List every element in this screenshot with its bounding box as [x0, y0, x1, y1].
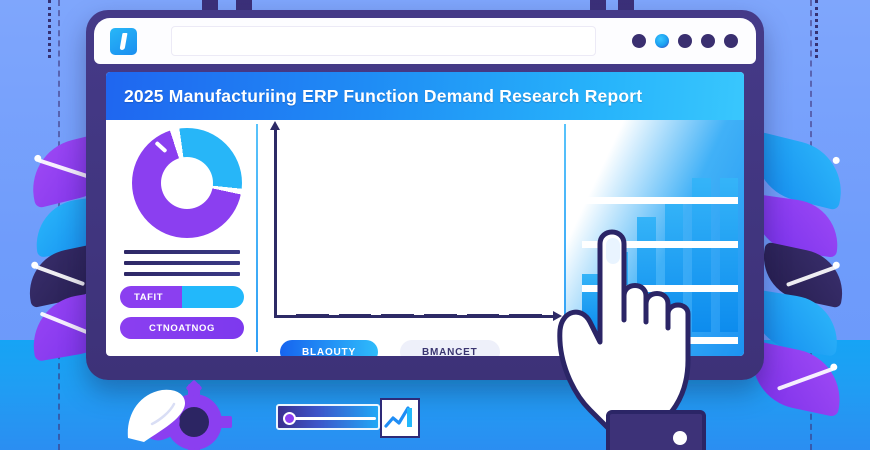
gridline	[582, 197, 738, 204]
leaf-shine-icon	[777, 367, 834, 391]
bar-blue	[312, 314, 328, 315]
bar-group	[381, 314, 414, 315]
left-button-tafit-label: TAFIT	[134, 292, 163, 303]
legend-line	[124, 250, 240, 254]
y-axis	[274, 128, 277, 318]
left-button-tafit[interactable]: TAFIT	[120, 286, 244, 308]
leaf-shine-icon	[786, 265, 837, 287]
dotted-stem-left	[48, 0, 51, 58]
legend-line	[124, 261, 240, 265]
address-bar-input[interactable]	[171, 26, 596, 56]
nav-dot-5[interactable]	[724, 34, 738, 48]
page-title: 2025 Manufacturiing ERP Function Demand …	[124, 86, 642, 107]
legend-placeholder-lines	[124, 250, 240, 283]
bar-blue	[483, 314, 499, 315]
middle-chart-pane: BLAOUTY BMANCET	[258, 120, 564, 356]
bar-group	[339, 314, 372, 315]
app-logo-icon[interactable]	[110, 28, 137, 55]
bar-purple	[424, 314, 440, 315]
mouse-and-gear-group	[128, 366, 248, 450]
window-control-dots	[632, 34, 738, 48]
nav-dot-1[interactable]	[632, 34, 646, 48]
dotted-stem-right	[815, 0, 818, 58]
bar-group	[296, 314, 329, 315]
bar-purple	[381, 314, 397, 315]
donut-chart	[132, 128, 242, 238]
left-summary-pane: TAFIT CTNOATNOG	[106, 120, 256, 356]
grouped-bar-chart	[296, 143, 542, 315]
middle-button-bmancet[interactable]: BMANCET	[400, 340, 500, 356]
bar-group	[424, 314, 457, 315]
leaf-dot-icon	[832, 156, 840, 164]
left-button-group: TAFIT CTNOATNOG	[120, 286, 244, 348]
bar-blue	[398, 314, 414, 315]
x-axis	[274, 315, 554, 318]
left-button-ctnoatnog[interactable]: CTNOATNOG	[120, 317, 244, 339]
trend-line-card[interactable]	[380, 398, 420, 438]
bar-blue	[440, 314, 456, 315]
slider-fill	[292, 417, 376, 420]
middle-button-primary-wrap: BLAOUTY	[280, 340, 378, 356]
nav-dot-2[interactable]	[655, 34, 669, 48]
bar-purple	[467, 314, 483, 315]
bar-group	[467, 314, 500, 315]
middle-button-secondary-wrap: BMANCET	[400, 340, 500, 356]
legend-line	[124, 272, 240, 276]
middle-button-blaouty-label: BLAOUTY	[302, 347, 356, 357]
slider-knob[interactable]	[283, 412, 296, 425]
middle-button-group: BLAOUTY BMANCET	[280, 340, 500, 356]
nav-dot-3[interactable]	[678, 34, 692, 48]
hand-pointer-icon	[520, 210, 750, 450]
bar-purple	[296, 314, 312, 315]
progress-slider-widget	[276, 398, 418, 438]
bar-chart-axes	[274, 128, 554, 318]
mouse-icon	[122, 380, 212, 450]
pointing-hand-cursor	[520, 210, 750, 450]
line-chart-icon	[382, 400, 418, 436]
donut-highlight-icon	[154, 141, 167, 153]
bar-purple	[339, 314, 355, 315]
middle-button-bmancet-label: BMANCET	[422, 347, 478, 357]
middle-button-blaouty[interactable]: BLAOUTY	[280, 340, 378, 356]
leaf-shine-icon	[35, 265, 85, 287]
report-title-bar: 2025 Manufacturiing ERP Function Demand …	[106, 72, 744, 120]
bar-blue	[355, 314, 371, 315]
left-button-ctnoatnog-label: CTNOATNOG	[149, 323, 215, 334]
slider-track[interactable]	[276, 404, 380, 430]
illustration-canvas: 2025 Manufacturiing ERP Function Demand …	[0, 0, 870, 450]
browser-chrome-bar	[94, 18, 756, 64]
nav-dot-4[interactable]	[701, 34, 715, 48]
